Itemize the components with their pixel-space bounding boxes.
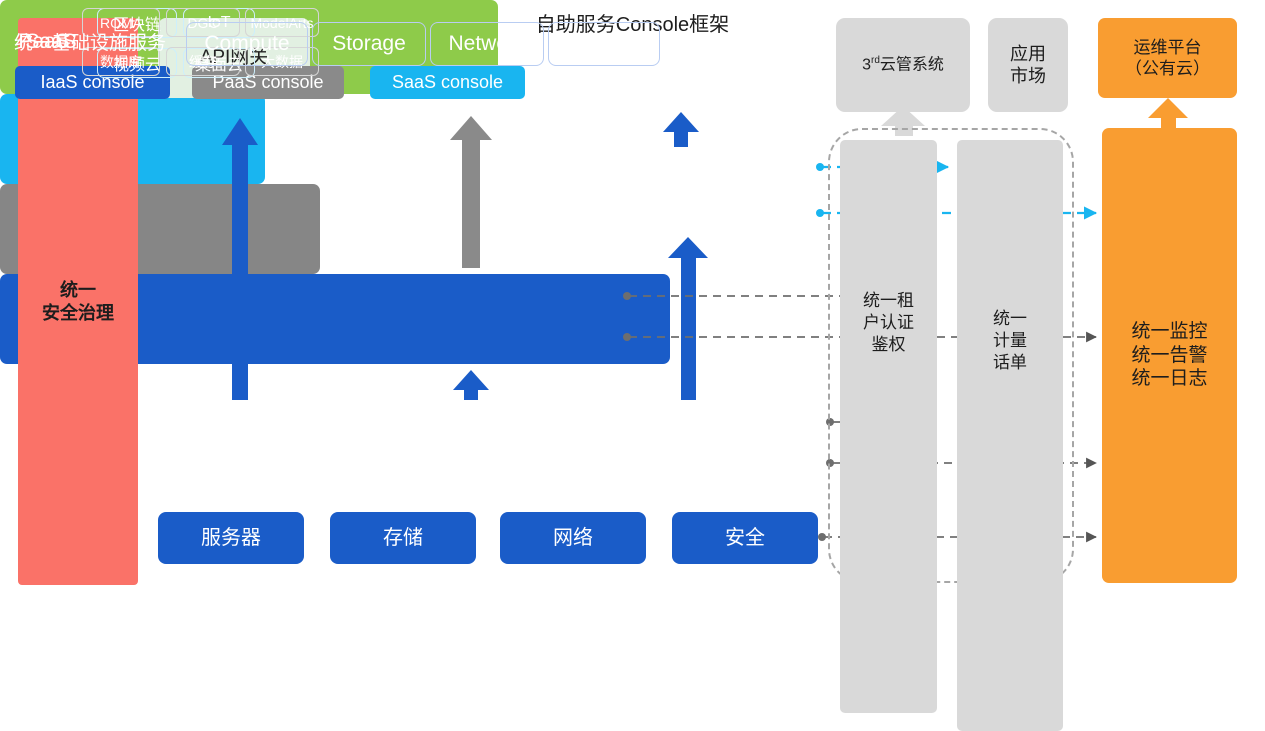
- auth-line-1: 统一租: [863, 290, 914, 312]
- arrow-paas-to-console: [450, 116, 492, 268]
- ops-platform-line-1: 运维平台: [1125, 37, 1210, 58]
- arrow-infra-to-paas: [453, 370, 489, 400]
- arrow-infra-to-api-gateway: [222, 118, 258, 400]
- auth-column[interactable]: 统一租 户认证 鉴权: [840, 140, 937, 713]
- arrow-saas-to-saas-console: [663, 112, 699, 147]
- bottom-box-storage[interactable]: 存储: [330, 512, 476, 564]
- infra-chip-network[interactable]: Network: [430, 22, 544, 66]
- infra-chip-compute[interactable]: Compute: [186, 22, 308, 66]
- arrow-infra-to-saas: [668, 237, 708, 400]
- bottom-box-network[interactable]: 网络: [500, 512, 646, 564]
- auth-line-2: 户认证: [863, 312, 914, 334]
- third-party-prefix: 3: [862, 56, 871, 73]
- app-market-line-2: 市场: [1010, 65, 1046, 88]
- security-line-1: 统一: [42, 279, 114, 302]
- app-market-box[interactable]: 应用 市场: [988, 18, 1068, 112]
- third-party-rest: 云管系统: [880, 56, 944, 73]
- bottom-box-server[interactable]: 服务器: [158, 512, 304, 564]
- billing-line-1: 统一: [993, 308, 1027, 330]
- billing-column[interactable]: 统一 计量 话单: [957, 140, 1063, 731]
- ops-column-line-1: 统一监控: [1131, 320, 1207, 344]
- third-party-label: 3rd云管系统: [862, 55, 944, 75]
- ops-platform-line-2: （公有云）: [1125, 58, 1210, 79]
- billing-line-2: 计量: [993, 330, 1027, 352]
- ops-monitoring-column[interactable]: 统一监控 统一告警 统一日志: [1102, 128, 1237, 583]
- arrow-ops-column-to-platform: [1148, 98, 1188, 128]
- auth-line-3: 鉴权: [863, 334, 914, 356]
- app-market-line-1: 应用: [1010, 43, 1046, 66]
- ops-column-line-3: 统一日志: [1131, 367, 1207, 391]
- ops-platform-box[interactable]: 运维平台 （公有云）: [1098, 18, 1237, 98]
- bottom-box-security[interactable]: 安全: [672, 512, 818, 564]
- billing-line-3: 话单: [993, 352, 1027, 374]
- third-party-cloud-mgmt-box[interactable]: 3rd云管系统: [836, 18, 970, 112]
- security-line-2: 安全治理: [42, 302, 114, 325]
- infra-chip-cce[interactable]: CCE: [548, 22, 660, 66]
- unified-security-governance-column[interactable]: 统一 安全治理: [18, 18, 138, 585]
- infra-chip-storage[interactable]: Storage: [312, 22, 426, 66]
- infra-label: 统一基础设施服务: [14, 28, 166, 55]
- ops-column-line-2: 统一告警: [1131, 344, 1207, 368]
- saas-console-chip[interactable]: SaaS console: [370, 66, 525, 99]
- third-party-sup: rd: [871, 55, 880, 66]
